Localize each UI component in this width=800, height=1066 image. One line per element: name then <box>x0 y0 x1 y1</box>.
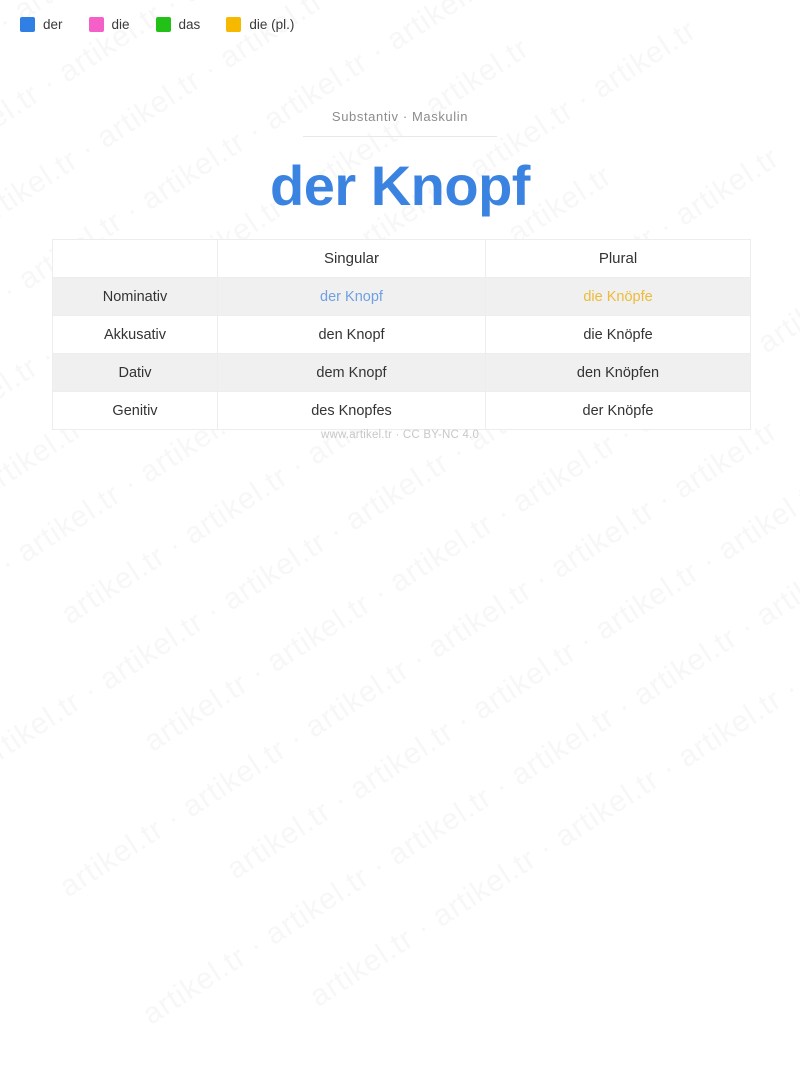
cell-case-3: Genitiv <box>53 392 218 430</box>
table-row: Nominativder Knopfdie Knöpfe <box>53 278 751 316</box>
table-row: Akkusativden Knopfdie Knöpfe <box>53 316 751 354</box>
word-type-subtitle: Substantiv · Maskulin <box>332 109 468 136</box>
legend-label-0: der <box>43 17 63 32</box>
legend-swatch-die <box>89 17 104 32</box>
cell-plural-2: den Knöpfen <box>486 354 751 392</box>
cell-singular-0: der Knopf <box>218 278 486 316</box>
subtitle-divider <box>303 136 497 137</box>
subtitle-wrapper: Substantiv · Maskulin <box>0 108 800 136</box>
cell-case-0: Nominativ <box>53 278 218 316</box>
column-header-plural: Plural <box>486 240 751 278</box>
legend-item-3: die (pl.) <box>226 17 294 32</box>
legend-swatch-das <box>156 17 171 32</box>
legend-swatch-der <box>20 17 35 32</box>
column-header-case <box>53 240 218 278</box>
table-header-row: Singular Plural <box>53 240 751 278</box>
table-header: Singular Plural <box>53 240 751 278</box>
column-header-singular: Singular <box>218 240 486 278</box>
cell-singular-1: den Knopf <box>218 316 486 354</box>
legend-item-2: das <box>156 17 201 32</box>
legend-label-3: die (pl.) <box>249 17 294 32</box>
table-body: Nominativder Knopfdie KnöpfeAkkusativden… <box>53 278 751 430</box>
table-row: Dativdem Knopfden Knöpfen <box>53 354 751 392</box>
cell-plural-1: die Knöpfe <box>486 316 751 354</box>
cell-singular-3: des Knopfes <box>218 392 486 430</box>
legend-label-2: das <box>179 17 201 32</box>
legend-item-1: die <box>89 17 130 32</box>
legend-label-1: die <box>112 17 130 32</box>
legend-item-0: der <box>20 17 63 32</box>
page-title: der Knopf <box>0 157 800 216</box>
article-color-legend: derdiedasdie (pl.) <box>20 17 294 32</box>
footer-credit: www.artikel.tr · CC BY-NC 4.0 <box>0 429 800 441</box>
cell-case-1: Akkusativ <box>53 316 218 354</box>
word-header: Substantiv · Maskulin der Knopf <box>0 108 800 216</box>
declension-table: Singular Plural Nominativder Knopfdie Kn… <box>52 239 751 430</box>
cell-plural-3: der Knöpfe <box>486 392 751 430</box>
conjugation-card: derdiedasdie (pl.) Substantiv · Maskulin… <box>0 0 800 533</box>
cell-plural-0: die Knöpfe <box>486 278 751 316</box>
legend-swatch-die-plural <box>226 17 241 32</box>
cell-singular-2: dem Knopf <box>218 354 486 392</box>
cell-case-2: Dativ <box>53 354 218 392</box>
table-row: Genitivdes Knopfesder Knöpfe <box>53 392 751 430</box>
